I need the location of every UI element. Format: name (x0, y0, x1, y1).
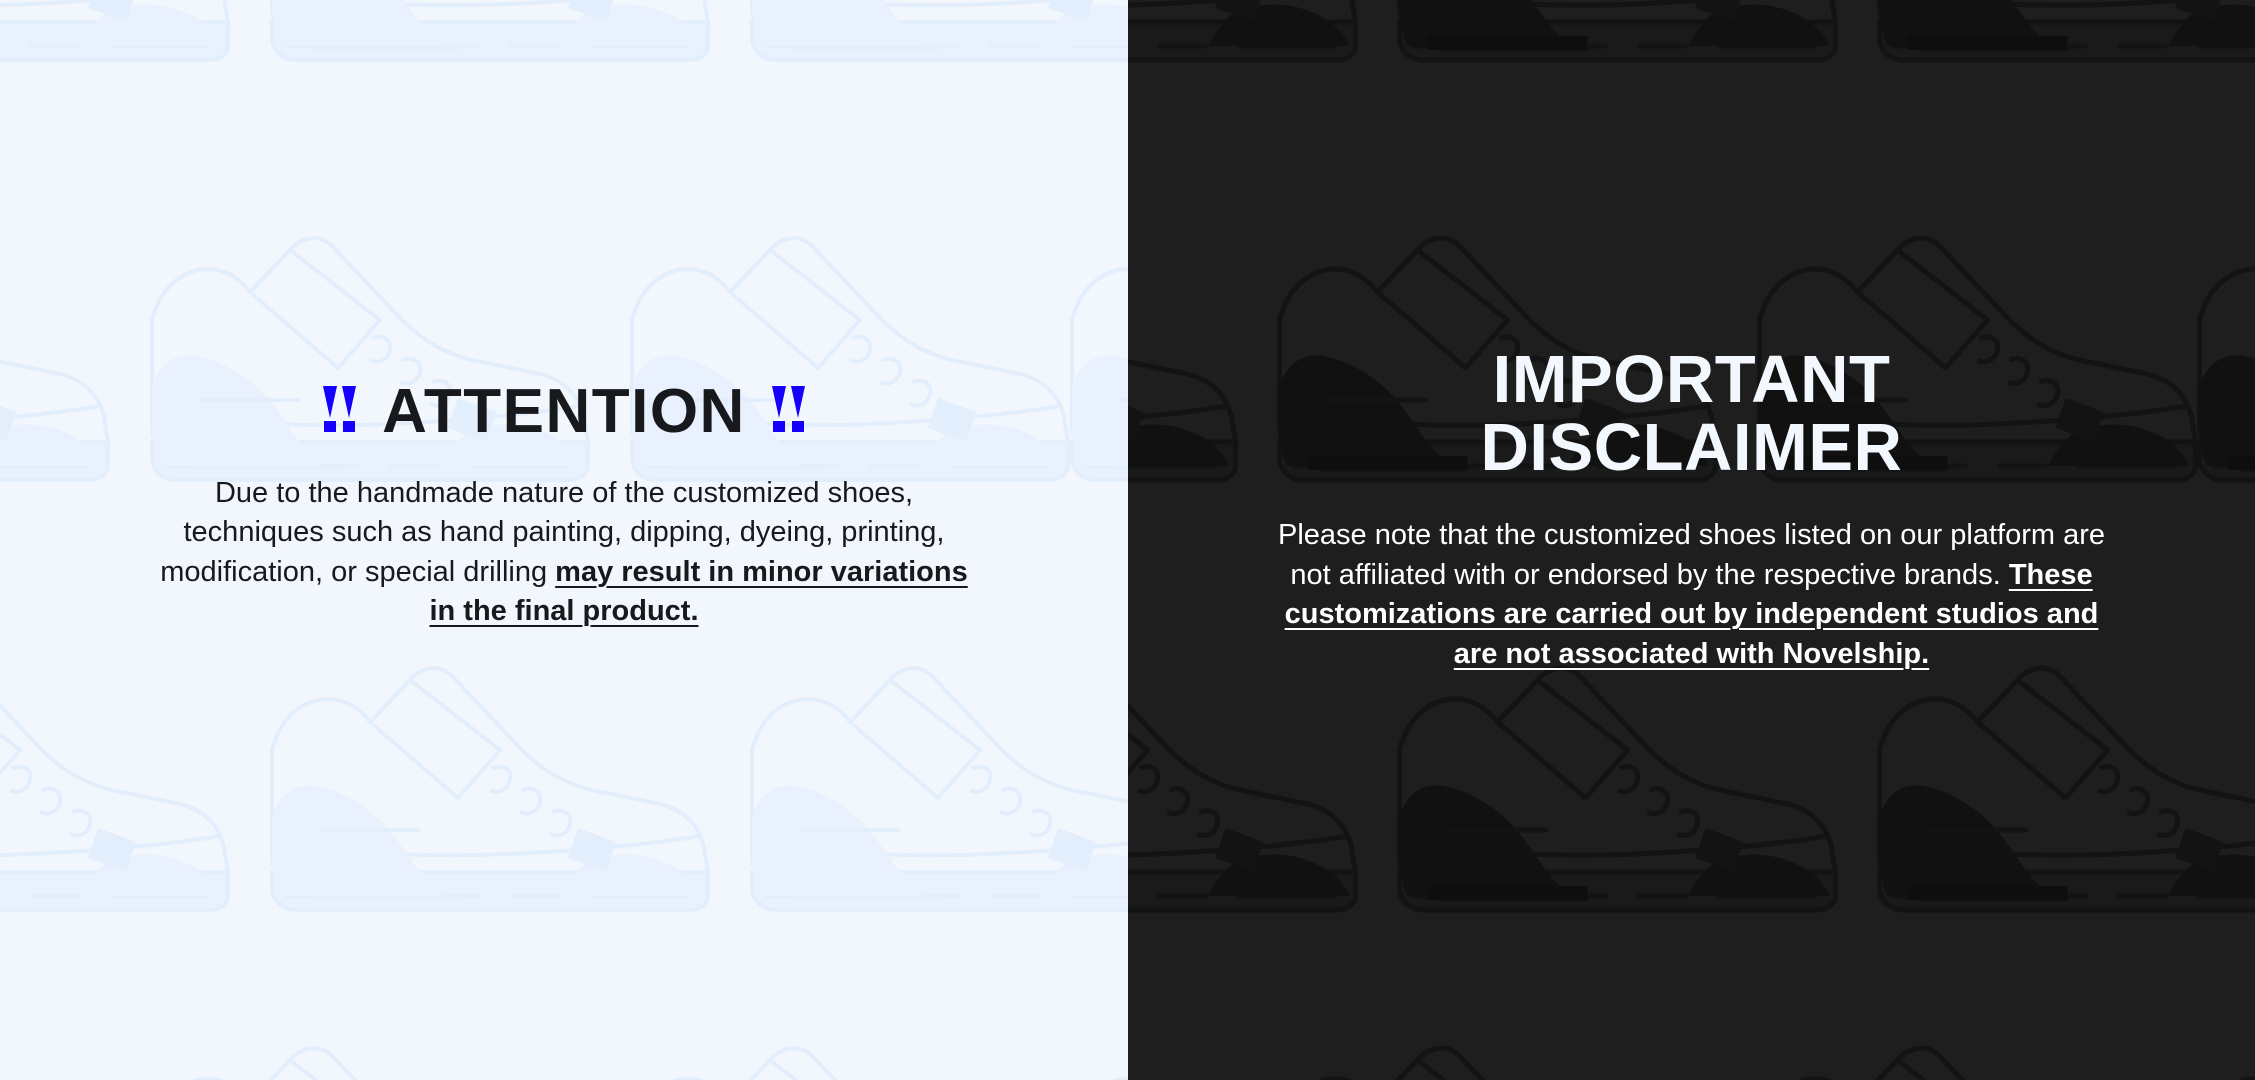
disclaimer-banner: ATTENTION Due to the handmade nature of … (0, 0, 2255, 1080)
attention-heading-text: ATTENTION (382, 379, 746, 444)
attention-panel: ATTENTION Due to the handmade nature of … (0, 0, 1128, 1080)
double-exclamation-mark-icon-left (323, 386, 356, 432)
disclaimer-heading-line-1: IMPORTANT (1152, 346, 2231, 414)
attention-content: ATTENTION Due to the handmade nature of … (0, 379, 1128, 632)
disclaimer-heading: IMPORTANT DISCLAIMER (1152, 346, 2231, 483)
attention-body: Due to the handmade nature of the custom… (154, 474, 974, 632)
double-exclamation-mark-icon-right (772, 386, 805, 432)
disclaimer-content: IMPORTANT DISCLAIMER Please note that th… (1128, 346, 2255, 674)
disclaimer-body-plain: Please note that the customized shoes li… (1278, 519, 2105, 590)
disclaimer-panel: IMPORTANT DISCLAIMER Please note that th… (1128, 0, 2255, 1080)
disclaimer-body: Please note that the customized shoes li… (1272, 516, 2112, 674)
attention-heading: ATTENTION (24, 379, 1104, 444)
disclaimer-heading-line-2: DISCLAIMER (1152, 414, 2231, 482)
